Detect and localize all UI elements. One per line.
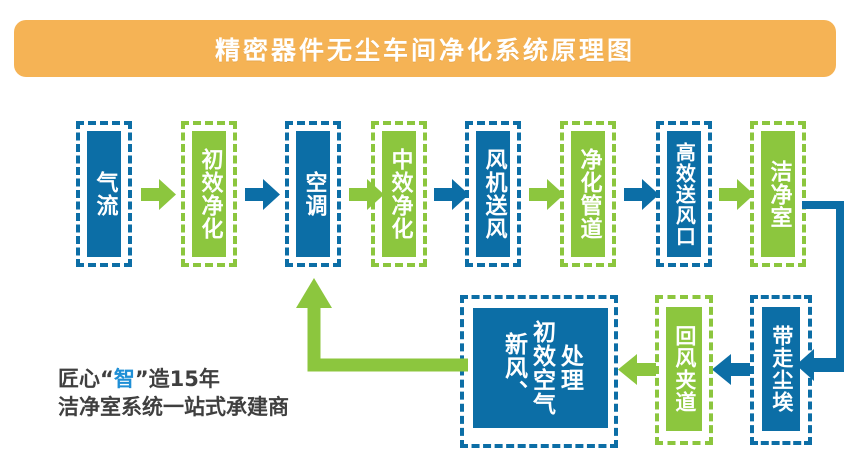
flow-node-chuxiaojinghua: 初效净化 xyxy=(181,121,237,267)
tagline-line-1: 匠心“智”造15年 xyxy=(58,366,388,394)
node-label: 初效净化 xyxy=(198,148,221,240)
node-body: 高效送风口 xyxy=(667,131,701,257)
node-label-column-2: 初效空气 xyxy=(529,320,553,416)
flow-node-huifengjiadao: 回风夹道 xyxy=(655,295,713,445)
tagline-prefix: 匠心 xyxy=(58,367,100,391)
flow-arrow-right-green xyxy=(719,179,754,210)
node-body: 风机送风 xyxy=(476,131,510,257)
tagline-quote-close: ” xyxy=(135,367,149,391)
node-body: 中效净化 xyxy=(382,131,416,257)
node-body: 初效净化 xyxy=(192,131,226,257)
tagline-quote-open: “ xyxy=(100,367,114,391)
node-label-column-1: 新风、 xyxy=(501,332,525,404)
flow-node-jinghuaguandao: 净化管道 xyxy=(560,121,616,267)
flow-arrow-right-green xyxy=(529,179,564,210)
node-body: 气流 xyxy=(87,131,121,257)
node-label-column-3: 处理 xyxy=(556,344,580,392)
tagline-suffix: 造15年 xyxy=(149,367,220,391)
tagline-line-2: 洁净室系统一站式承建商 xyxy=(58,394,388,422)
connector-pretreatment-to-ac xyxy=(292,278,472,373)
flow-node-fengjisongfeng: 风机送风 xyxy=(465,121,521,267)
node-body: 净化管道 xyxy=(571,131,605,257)
node-body: 带走尘埃 xyxy=(762,307,800,431)
node-label: 高效送风口 xyxy=(674,142,695,247)
flow-arrow-right-green xyxy=(141,179,176,210)
flow-arrow-left-green xyxy=(618,354,656,385)
node-label: 洁净室 xyxy=(767,160,790,229)
flow-node-daizouchenai: 带走尘埃 xyxy=(750,295,812,445)
flow-node-zhongxiaojinghua: 中效净化 xyxy=(371,121,427,267)
node-body: 回风夹道 xyxy=(666,307,702,431)
flow-arrow-right-blue xyxy=(624,179,659,210)
node-label: 净化管道 xyxy=(577,148,600,240)
flow-arrow-right-blue xyxy=(245,179,280,210)
flow-node-qiliu: 气流 xyxy=(76,121,132,267)
node-label: 气流 xyxy=(93,171,116,217)
tagline-highlight: 智 xyxy=(114,367,135,391)
node-label: 中效净化 xyxy=(388,148,411,240)
flow-arrow-left-blue xyxy=(712,354,750,385)
node-label: 空调 xyxy=(302,171,325,217)
flow-node-fresh-air-pretreatment: 新风、 初效空气 处理 xyxy=(460,295,618,448)
node-body: 新风、 初效空气 处理 xyxy=(473,308,608,428)
node-body: 空调 xyxy=(296,131,330,257)
tagline: 匠心“智”造15年 洁净室系统一站式承建商 xyxy=(58,366,388,421)
title-banner: 精密器件无尘车间净化系统原理图 xyxy=(14,20,836,77)
diagram-canvas: 精密器件无尘车间净化系统原理图 气流 初效净化 空调 xyxy=(0,0,850,459)
flow-arrow-right-blue xyxy=(434,179,469,210)
node-body: 洁净室 xyxy=(761,131,795,257)
node-label: 带走尘埃 xyxy=(770,325,792,413)
flow-node-kongtiao: 空调 xyxy=(285,121,341,267)
flow-node-gaoxiaosongfengkou: 高效送风口 xyxy=(656,121,712,267)
page-title: 精密器件无尘车间净化系统原理图 xyxy=(215,31,635,67)
node-label: 风机送风 xyxy=(482,148,505,240)
flow-node-jiejingshi: 洁净室 xyxy=(750,121,806,267)
node-label: 回风夹道 xyxy=(673,325,695,413)
